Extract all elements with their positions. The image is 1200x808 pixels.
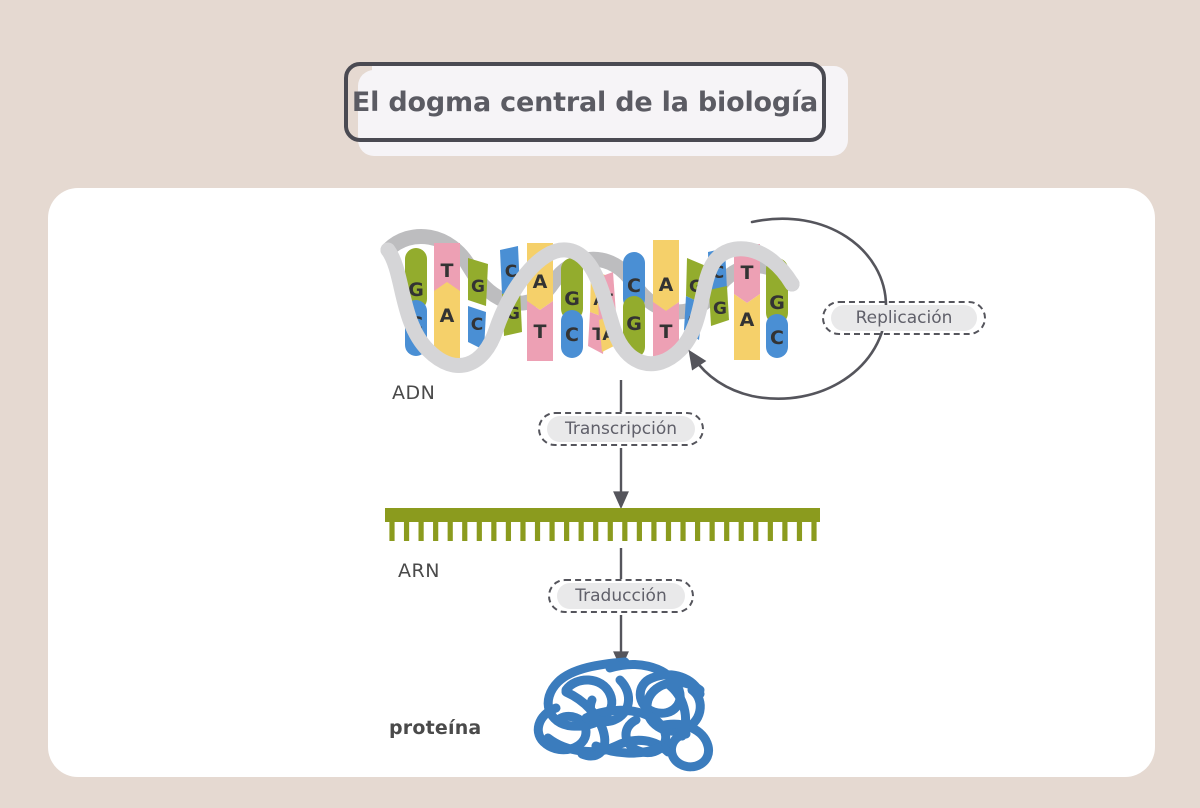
badge-transcription[interactable]: Transcripción bbox=[538, 412, 704, 446]
page-title: El dogma central de la biología bbox=[344, 62, 826, 142]
label-rna: ARN bbox=[398, 560, 440, 582]
page-title-container: El dogma central de la biología bbox=[344, 62, 834, 148]
label-protein: proteína bbox=[389, 717, 481, 739]
badge-translation[interactable]: Traducción bbox=[548, 579, 694, 613]
badge-translation-label: Traducción bbox=[557, 583, 685, 609]
badge-transcription-label: Transcripción bbox=[547, 416, 695, 442]
diagram-card bbox=[48, 188, 1155, 777]
badge-replication-label: Replicación bbox=[831, 305, 977, 331]
label-dna: ADN bbox=[392, 382, 435, 404]
badge-replication[interactable]: Replicación bbox=[822, 301, 986, 335]
